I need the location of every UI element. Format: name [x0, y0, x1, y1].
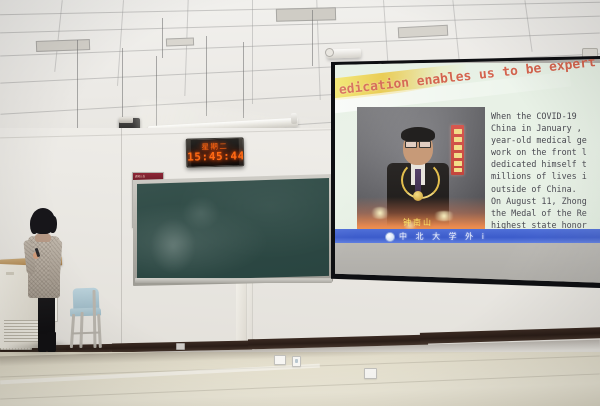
- presenter-boot: [47, 332, 56, 352]
- slide-body-line: millions of lives i: [491, 171, 587, 183]
- projection-screen[interactable]: edication enables us to be expert a: [335, 59, 600, 285]
- chair-shadow: [68, 344, 106, 354]
- chalk-smudge: [182, 196, 220, 230]
- led-clock-time: 15:45:44: [187, 149, 243, 163]
- wall-outlet[interactable]: [364, 368, 377, 379]
- slide: edication enables us to be expert a: [335, 59, 600, 285]
- lectern-label: [6, 272, 14, 275]
- photo-sparkle: [431, 211, 457, 221]
- photo-sparkle: [369, 207, 391, 219]
- wall-switch[interactable]: [292, 356, 301, 367]
- classroom-photo: 通知公告 星期二 15:45:44: [0, 0, 600, 406]
- university-logo-icon: [385, 232, 395, 242]
- slide-body-line: When the COVID-19: [491, 111, 587, 123]
- wall-outlet[interactable]: [274, 355, 286, 365]
- slide-body-line: China in January ,: [491, 123, 587, 135]
- photo-caption: 钟南山: [403, 217, 433, 228]
- slide-body-line: outside of China.: [491, 184, 587, 196]
- rail-hanger: [206, 36, 207, 116]
- slide-photo: 钟南山: [357, 107, 485, 239]
- lectern-vent: [4, 320, 40, 342]
- chalk-tray: [135, 278, 332, 283]
- portrait-glasses-left: [405, 141, 417, 148]
- rail-hanger: [243, 42, 244, 118]
- slide-footer-text: 中 北 大 学 外 i: [399, 231, 487, 242]
- rail-hanger: [77, 40, 78, 135]
- slide-body-line: the Medal of the Re: [491, 208, 587, 220]
- rail-hanger: [162, 18, 163, 58]
- led-clock: 星期二 15:45:44: [186, 137, 245, 167]
- slide-body-line: year-old medical ge: [491, 135, 587, 147]
- presenter-hair-side: [30, 216, 38, 234]
- slide-body-line: work on the front l: [491, 147, 587, 159]
- slide-footer-band: 中 北 大 学 外 i: [335, 229, 600, 243]
- red-vertical-banner: [451, 125, 464, 175]
- portrait-hair: [401, 127, 435, 142]
- portrait-glasses-right: [419, 141, 431, 148]
- slide-body-line: dedicated himself t: [491, 159, 587, 171]
- wall-plate[interactable]: [176, 343, 185, 350]
- notice-header-text: 通知公告: [135, 174, 145, 178]
- projector-top: [119, 117, 133, 123]
- slide-body-line: On August 11, Zhong: [491, 196, 587, 208]
- screen-housing-cap: [325, 48, 334, 57]
- presenter-scarf: [35, 234, 51, 242]
- rail-hanger: [312, 10, 313, 66]
- presenter-hair-side: [49, 216, 57, 233]
- presenter-boot: [38, 334, 47, 352]
- slide-body-text: When the COVID-19 China in January , yea…: [491, 111, 587, 232]
